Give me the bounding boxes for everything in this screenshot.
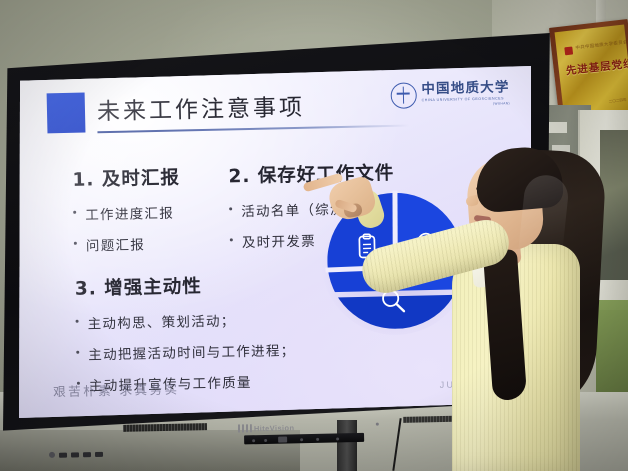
photo-scene: 中共中国地质大学委员会 先进基层党组织 二〇二四年 未来工作注意事项 (0, 0, 628, 471)
presenter (0, 0, 628, 471)
